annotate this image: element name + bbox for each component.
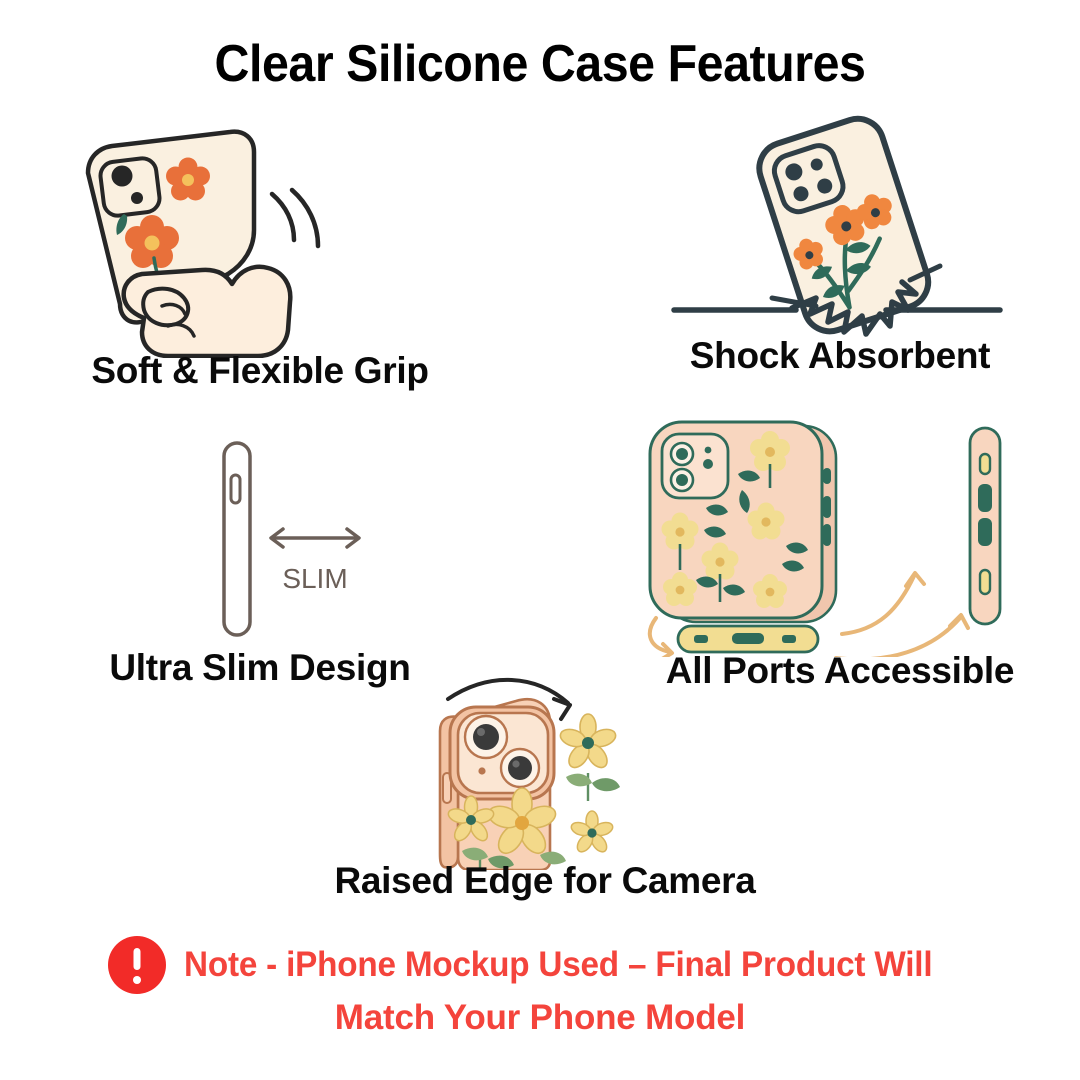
phone-edge-profile-thickness-arrow-illustration: SLIM xyxy=(40,425,480,655)
disclaimer-note: Note - iPhone Mockup Used – Final Produc… xyxy=(0,936,1080,1041)
feature-caption-shock-absorbent: Shock Absorbent xyxy=(610,335,1070,377)
phone-case-raised-camera-bump-illustration xyxy=(330,655,760,870)
disclaimer-note-first-line: Note - iPhone Mockup Used – Final Produc… xyxy=(0,936,1080,994)
page-title: Clear Silicone Case Features xyxy=(38,36,1042,93)
feature-soft-flexible-grip: Soft & Flexible Grip xyxy=(30,118,490,408)
disclaimer-note-line2: Match Your Phone Model xyxy=(0,996,1080,1041)
feature-caption-soft-flexible-grip: Soft & Flexible Grip xyxy=(30,350,490,392)
hand-holding-flexing-phone-case-illustration xyxy=(30,118,490,358)
exclamation-circle-icon xyxy=(108,936,166,994)
infographic-page: Clear Silicone Case Features xyxy=(0,0,1080,1080)
phone-dropping-impact-burst-illustration xyxy=(610,110,1070,345)
slim-measure-label: SLIM xyxy=(282,563,347,594)
feature-raised-edge-camera: Raised Edge for Camera xyxy=(330,655,760,920)
feature-caption-raised-edge-camera: Raised Edge for Camera xyxy=(295,860,795,902)
feature-shock-absorbent: Shock Absorbent xyxy=(610,110,1070,400)
phone-case-side-and-bottom-port-cutouts-illustration xyxy=(620,412,1060,657)
disclaimer-note-line1: Note - iPhone Mockup Used – Final Produc… xyxy=(184,943,932,988)
